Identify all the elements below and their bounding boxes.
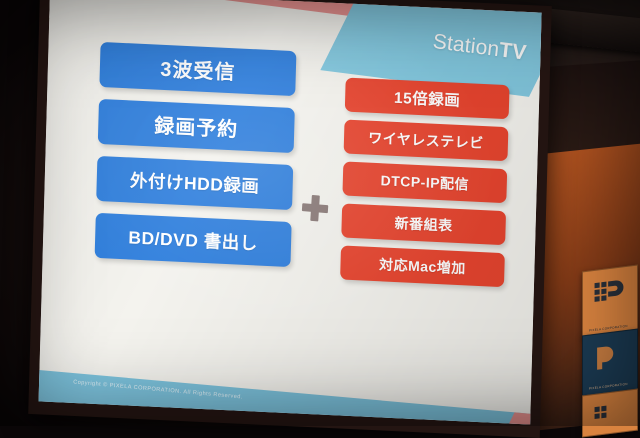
feature-button-new-program-guide[interactable]: 新番組表 bbox=[341, 203, 506, 245]
conference-room-background: PIXELA CORPORATION PIXELA CORPORATION St… bbox=[0, 0, 640, 426]
blue-feature-column: 3波受信 録画予約 外付けHDD録画 BD/DVD 書出し bbox=[95, 42, 297, 267]
feature-button-mac-support[interactable]: 対応Mac増加 bbox=[340, 245, 505, 287]
presentation-slide: StationTV 3波受信 録画予約 外付けHDD録画 bbox=[39, 0, 542, 425]
feature-button-label: 録画予約 bbox=[154, 110, 239, 143]
feature-button-bd-dvd-export[interactable]: BD/DVD 書出し bbox=[95, 213, 292, 267]
projection-screen-frame: StationTV 3波受信 録画予約 外付けHDD録画 bbox=[28, 0, 552, 438]
projection-screen: StationTV 3波受信 録画予約 外付けHDD録画 bbox=[39, 0, 542, 425]
backdrop-banner-bottom bbox=[582, 389, 638, 438]
pixela-logo-icon bbox=[592, 339, 626, 377]
plus-icon bbox=[301, 194, 329, 222]
feature-button-label: 3波受信 bbox=[160, 53, 236, 86]
plus-vertical-bar bbox=[310, 195, 320, 222]
feature-button-label: DTCP-IP配信 bbox=[380, 170, 469, 194]
feature-button-15x-recording[interactable]: 15倍録画 bbox=[345, 78, 510, 120]
feature-button-external-hdd[interactable]: 外付けHDD録画 bbox=[96, 156, 293, 210]
feature-button-3wave[interactable]: 3波受信 bbox=[99, 42, 296, 96]
feature-button-label: ワイヤレステレビ bbox=[368, 128, 484, 153]
feature-button-label: BD/DVD 書出し bbox=[128, 224, 258, 255]
pixela-logo-icon bbox=[592, 399, 626, 437]
feature-button-label: 新番組表 bbox=[394, 213, 453, 236]
banner-caption: PIXELA CORPORATION bbox=[589, 382, 628, 391]
red-feature-column: 15倍録画 ワイヤレステレビ DTCP-IP配信 新番組表 対応Mac増加 bbox=[340, 78, 509, 288]
feature-button-label: 対応Mac増加 bbox=[379, 254, 466, 278]
feature-button-label: 15倍録画 bbox=[394, 86, 461, 111]
pixela-logo-icon bbox=[592, 275, 626, 313]
feature-button-dtcp-ip[interactable]: DTCP-IP配信 bbox=[342, 161, 507, 203]
feature-button-label: 外付けHDD録画 bbox=[130, 167, 260, 198]
feature-button-wireless-tv[interactable]: ワイヤレステレビ bbox=[344, 119, 509, 161]
backdrop-banner-middle: PIXELA CORPORATION bbox=[582, 329, 638, 398]
feature-columns: 3波受信 録画予約 外付けHDD録画 BD/DVD 書出し bbox=[39, 0, 542, 425]
feature-button-recording-reservation[interactable]: 録画予約 bbox=[98, 99, 295, 153]
backdrop-banner-top: PIXELA CORPORATION bbox=[582, 265, 638, 340]
